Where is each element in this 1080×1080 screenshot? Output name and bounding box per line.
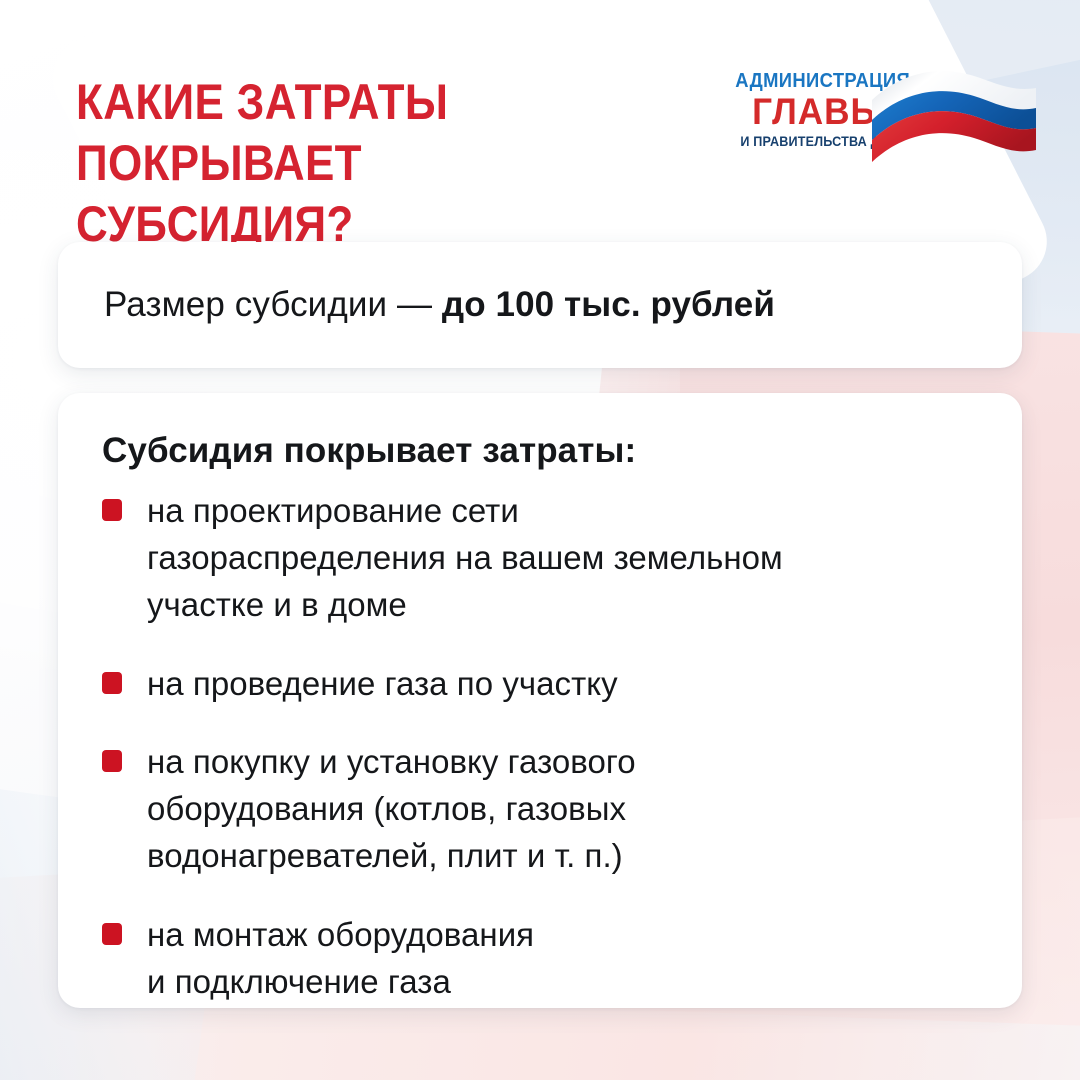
subsidy-amount-prefix: Размер субсидии — xyxy=(104,285,442,324)
list-item: на проектирование сети газораспределения… xyxy=(102,488,986,629)
poster-header: КАКИЕ ЗАТРАТЫ ПОКРЫВАЕТ СУБСИДИЯ? АДМИНИ… xyxy=(0,0,1080,230)
covered-costs-card: Субсидия покрывает затраты: на проектиро… xyxy=(58,393,1022,1008)
organization-logo: АДМИНИСТРАЦИЯ ГЛАВЫ И ПРАВИТЕЛЬСТВА ДНР xyxy=(728,62,1028,182)
subsidy-amount-value: до 100 тыс. рублей xyxy=(442,285,775,324)
russian-tricolor-wave-icon xyxy=(870,64,1040,176)
list-item-label: на монтаж оборудования и подключение газ… xyxy=(147,912,986,1006)
bullet-square-icon xyxy=(102,750,122,772)
list-item: на покупку и установку газового оборудов… xyxy=(102,739,986,880)
page-title: КАКИЕ ЗАТРАТЫ ПОКРЫВАЕТ СУБСИДИЯ? xyxy=(76,72,622,255)
poster-root: КАКИЕ ЗАТРАТЫ ПОКРЫВАЕТ СУБСИДИЯ? АДМИНИ… xyxy=(0,0,1080,1080)
list-item-label: на покупку и установку газового оборудов… xyxy=(147,739,986,880)
list-item: на монтаж оборудования и подключение газ… xyxy=(102,912,986,1006)
subsidy-amount-card: Размер субсидии — до 100 тыс. рублей xyxy=(58,242,1022,368)
covered-costs-heading: Субсидия покрывает затраты: xyxy=(102,431,636,471)
bullet-square-icon xyxy=(102,923,122,945)
bullet-square-icon xyxy=(102,499,122,521)
bullet-square-icon xyxy=(102,672,122,694)
list-item-label: на проектирование сети газораспределения… xyxy=(147,488,986,629)
list-item: на проведение газа по участку xyxy=(102,661,986,708)
covered-costs-list: на проектирование сети газораспределения… xyxy=(102,488,986,1006)
list-item-label: на проведение газа по участку xyxy=(147,661,986,708)
subsidy-amount-text: Размер субсидии — до 100 тыс. рублей xyxy=(104,285,775,325)
